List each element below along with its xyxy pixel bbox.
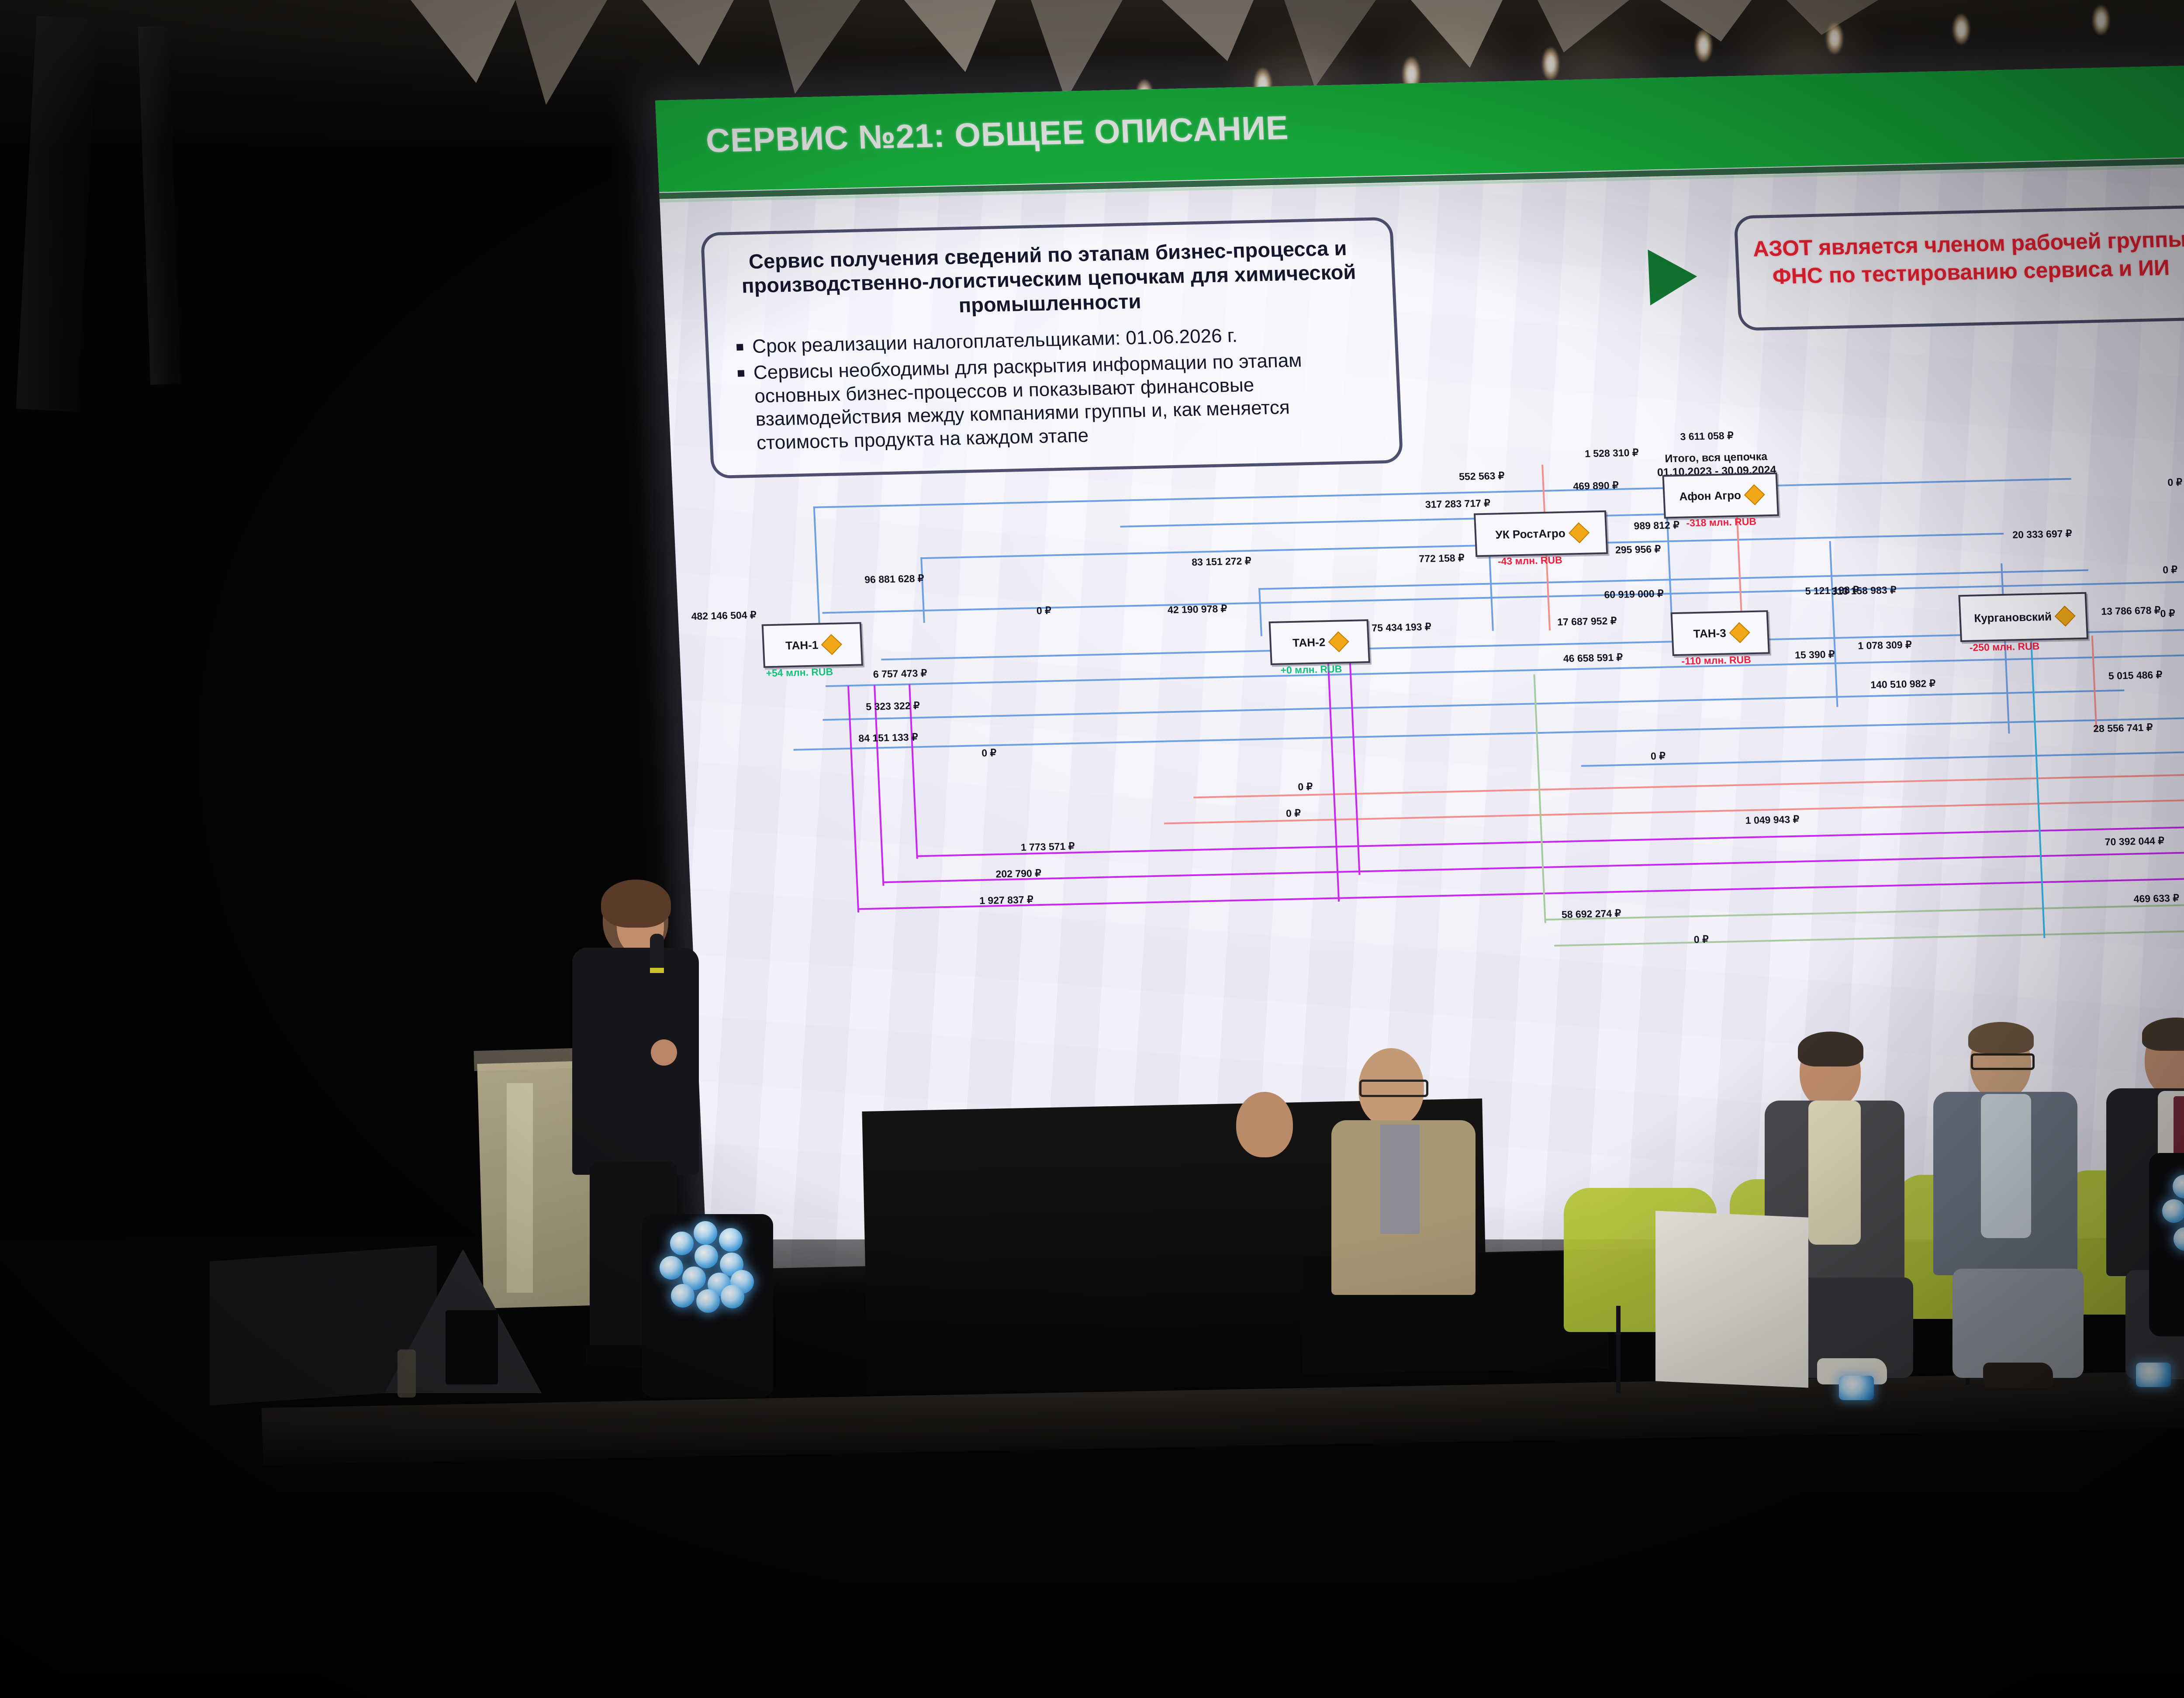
diagram-node-kurganovsky[interactable]: Кургановский xyxy=(1958,592,2088,642)
edge-amount: 58 692 274 ₽ xyxy=(1561,908,1621,921)
flow-edge xyxy=(1581,750,2184,767)
flow-edge xyxy=(1533,674,1546,923)
panelist-1-turtleneck xyxy=(1808,1101,1861,1245)
led-lamp xyxy=(2174,1227,2184,1251)
second-person-head xyxy=(1236,1092,1293,1157)
flow-edge xyxy=(1349,652,1361,875)
node-label: ТАН-1 xyxy=(785,638,819,652)
panelist-1-hair xyxy=(1798,1032,1863,1066)
flow-edge xyxy=(857,876,2184,910)
panelist-3-hair xyxy=(2142,1018,2184,1051)
azot-membership-callout: АЗОТ является членом рабочей группы ФНС … xyxy=(1734,205,2184,331)
node-label: Кургановский xyxy=(1974,610,2052,625)
edge-amount: 13 786 678 ₽ xyxy=(2101,604,2161,618)
led-lamp xyxy=(671,1284,695,1308)
edge-amount: 1 528 310 ₽ xyxy=(1585,447,1639,460)
speaker-microphone-band xyxy=(650,968,664,973)
ceiling-panel xyxy=(904,0,996,72)
moderator-glasses xyxy=(1359,1080,1428,1097)
flow-edge xyxy=(2030,641,2045,938)
diagram-node-afon-agro[interactable]: Афон Агро xyxy=(1662,473,1779,519)
flow-edge xyxy=(874,685,884,886)
edge-amount: 46 658 591 ₽ xyxy=(1563,652,1623,665)
ceiling-spotlight xyxy=(1542,47,1559,80)
led-lamp xyxy=(695,1245,718,1268)
node-delta: -110 млн. RUB xyxy=(1681,654,1751,667)
bullet-item: Сервисы необходимы для раскрытия информа… xyxy=(736,347,1382,456)
edge-amount: 83 151 272 ₽ xyxy=(1192,555,1251,568)
ceiling-spotlight xyxy=(1952,14,1970,45)
floor-led-can xyxy=(2136,1363,2171,1387)
edge-amount: 317 283 717 ₽ xyxy=(1425,497,1490,511)
diagram-node-tan2[interactable]: ТАН-2 xyxy=(1268,619,1370,665)
edge-amount: 469 890 ₽ xyxy=(1573,480,1619,492)
floor-led-can xyxy=(1839,1376,1874,1400)
description-heading: Сервис получения сведений по этапам бизн… xyxy=(722,235,1375,323)
auditorium-scene: СЕРВИС №21: ОБЩЕЕ ОПИСАНИЕ Сервис получе… xyxy=(0,0,2184,1698)
flow-edge xyxy=(920,557,925,623)
edge-amount: 0 ₽ xyxy=(1286,808,1301,820)
speaker-hair xyxy=(601,880,671,928)
edge-amount: 552 563 ₽ xyxy=(1459,470,1505,483)
diamond-icon xyxy=(1729,622,1750,643)
flow-edge xyxy=(1164,797,2184,824)
edge-amount: 1 049 943 ₽ xyxy=(1745,814,1800,827)
edge-amount: 84 151 133 ₽ xyxy=(858,731,918,744)
edge-amount: 6 757 473 ₽ xyxy=(873,667,927,680)
edge-amount: 140 510 982 ₽ xyxy=(1870,678,1936,691)
flow-edge xyxy=(813,507,820,625)
moderator-shirt xyxy=(1380,1125,1420,1234)
led-lamp xyxy=(670,1232,694,1255)
edge-amount: 20 333 697 ₽ xyxy=(2012,528,2072,541)
ceiling-panel xyxy=(411,0,515,83)
edge-amount: 1 773 571 ₽ xyxy=(1020,840,1075,853)
node-label: ТАН-2 xyxy=(1292,635,1326,650)
chair-leg xyxy=(1616,1306,1621,1393)
flow-edge xyxy=(882,850,2184,884)
second-seated-person xyxy=(1219,1092,1315,1205)
diagram-node-uk-rostagro[interactable]: УК РостАгро xyxy=(1474,511,1608,557)
ceiling-spotlight xyxy=(1695,30,1712,62)
azot-membership-text: АЗОТ является членом рабочей группы ФНС … xyxy=(1738,225,2184,291)
diagram-node-tan3[interactable]: ТАН-3 xyxy=(1670,610,1769,656)
led-lamp xyxy=(721,1285,744,1308)
edge-amount: 5 323 322 ₽ xyxy=(866,700,920,713)
panelist-2-shoe xyxy=(1983,1363,2053,1388)
edge-amount: 17 687 952 ₽ xyxy=(1557,615,1617,628)
ceiling-panel xyxy=(642,0,734,66)
flow-edge xyxy=(822,690,2124,721)
edge-amount: 60 919 000 ₽ xyxy=(1604,588,1664,601)
flow-edge xyxy=(1193,773,2184,798)
diamond-icon xyxy=(821,634,842,655)
edge-amount: 3 611 058 ₽ xyxy=(1680,430,1734,443)
led-lamp xyxy=(694,1221,717,1245)
led-lamp xyxy=(2173,1175,2184,1198)
ceiling-panel xyxy=(769,0,860,94)
flow-edge xyxy=(1544,902,2184,921)
edge-amount: 469 633 ₽ xyxy=(2133,892,2179,905)
panelist-2 xyxy=(1922,1026,2088,1371)
edge-amount: 1 078 309 ₽ xyxy=(1858,639,1912,652)
white-riser-front xyxy=(1655,1211,1808,1387)
edge-amount: 772 158 ₽ xyxy=(1419,552,1465,565)
diagram-node-tan1[interactable]: ТАН-1 xyxy=(762,622,863,668)
node-delta: +0 млн. RUB xyxy=(1280,663,1342,676)
edge-amount: 202 790 ₽ xyxy=(995,867,1041,880)
led-lamp xyxy=(2162,1199,2184,1223)
edge-amount: 0 ₽ xyxy=(2160,607,2175,620)
node-label: УК РостАгро xyxy=(1495,526,1565,542)
flow-edge xyxy=(1120,512,1714,528)
water-bottle xyxy=(397,1349,416,1398)
led-lamp xyxy=(696,1289,720,1313)
flow-edge xyxy=(2091,635,2098,732)
ceiling-spotlight xyxy=(1826,23,1843,54)
edge-amount: 5 015 486 ₽ xyxy=(2108,669,2163,682)
moderator xyxy=(1319,1048,1503,1293)
ceiling-spotlight xyxy=(2092,5,2110,35)
edge-amount: 0 ₽ xyxy=(1650,750,1666,763)
led-lamp xyxy=(660,1256,683,1280)
edge-amount: 482 146 504 ₽ xyxy=(691,609,757,622)
edge-amount: 70 392 044 ₽ xyxy=(2105,835,2164,848)
node-delta: -250 млн. RUB xyxy=(1969,640,2040,654)
description-callout: Сервис получения сведений по этапам бизн… xyxy=(701,217,1403,479)
led-lamp xyxy=(719,1228,743,1252)
edge-amount: 989 812 ₽ xyxy=(1634,519,1679,532)
flow-edge xyxy=(1554,928,2184,947)
flow-edge xyxy=(1258,588,1262,636)
edge-amount: 0 ₽ xyxy=(2163,564,2178,576)
panelist-2-legs xyxy=(1952,1269,2084,1378)
speaker-microphone xyxy=(650,934,664,973)
node-delta: +54 млн. RUB xyxy=(766,666,833,679)
edge-amount: 96 881 628 ₽ xyxy=(864,573,924,586)
panelist-2-hair xyxy=(1968,1022,2034,1053)
edge-amount: 0 ₽ xyxy=(1036,604,1051,617)
led-wash-fixture xyxy=(655,1218,756,1319)
green-triangle-right-icon xyxy=(1648,248,1698,305)
flow-edge xyxy=(1829,541,1838,707)
edge-amount: 0 ₽ xyxy=(1298,781,1313,793)
panelist-2-glasses xyxy=(1971,1053,2035,1070)
flow-edge xyxy=(793,716,2184,751)
flow-edge xyxy=(1736,513,1742,622)
flow-edge xyxy=(916,825,2184,857)
flow-edge xyxy=(1327,653,1340,902)
node-label: ТАН-3 xyxy=(1693,626,1726,641)
diamond-icon xyxy=(2055,606,2076,627)
edge-amount: 15 390 ₽ xyxy=(1795,649,1835,661)
edge-amount: 0 ₽ xyxy=(981,747,997,759)
speaker-torso xyxy=(572,948,699,1175)
flow-edge xyxy=(826,654,2184,687)
edge-amount: 1 927 837 ₽ xyxy=(979,894,1034,907)
diamond-icon xyxy=(1569,522,1590,543)
edge-amount: 313 158 983 ₽ xyxy=(1831,584,1897,597)
stage-monitor-grille xyxy=(446,1310,498,1384)
edge-amount: 295 956 ₽ xyxy=(1615,543,1661,556)
edge-amount: 0 ₽ xyxy=(2167,476,2183,489)
ceiling-panel xyxy=(1031,0,1123,100)
edge-amount: 28 556 741 ₽ xyxy=(2093,721,2153,735)
node-delta: -43 млн. RUB xyxy=(1497,554,1562,567)
panelist-2-shirt xyxy=(1981,1094,2031,1238)
edge-amount: 42 190 978 ₽ xyxy=(1167,603,1227,616)
description-bullet-list: Срок реализации налогоплательщиками: 01.… xyxy=(735,321,1382,455)
speaker-hand xyxy=(651,1039,677,1066)
edge-amount: 0 ₽ xyxy=(1693,933,1709,946)
diamond-icon xyxy=(1328,631,1349,652)
slide-title: СЕРВИС №21: ОБЩЕЕ ОПИСАНИЕ xyxy=(705,109,1289,160)
node-label: Афон Агро xyxy=(1679,488,1742,503)
node-delta: -318 млн. RUB xyxy=(1686,516,1757,529)
ceiling-panel xyxy=(515,0,607,105)
diamond-icon xyxy=(1744,484,1765,505)
edge-amount: 75 434 193 ₽ xyxy=(1372,621,1431,634)
white-riser-left xyxy=(507,1083,533,1293)
